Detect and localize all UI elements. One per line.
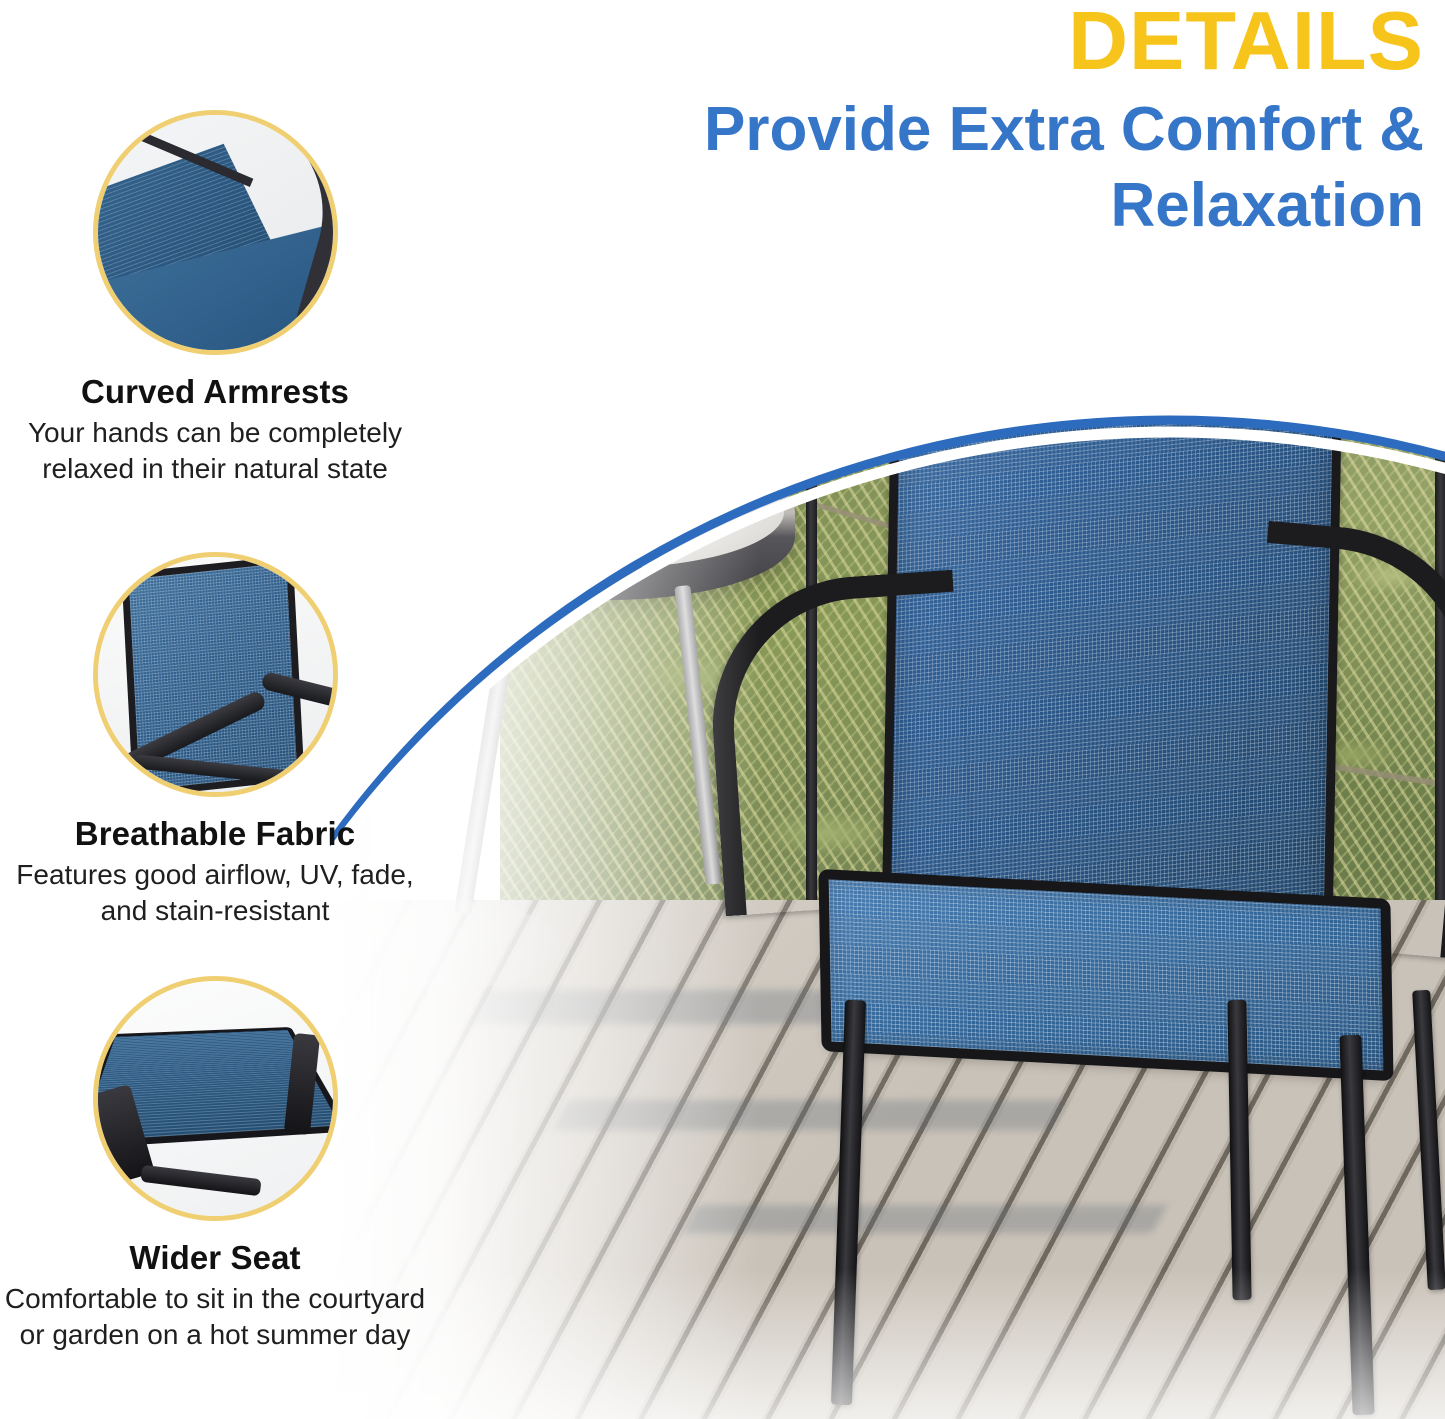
photo-bottom-fade — [330, 1269, 1445, 1419]
feature-title-wider-seat: Wider Seat — [0, 1239, 430, 1277]
feature-desc-line-1: Comfortable to sit in the courtyard — [0, 1281, 430, 1317]
page-subtitle: Provide Extra Comfort & Relaxation — [330, 92, 1430, 243]
feature-image-wider-seat — [93, 976, 338, 1221]
page-title: DETAILS — [330, 0, 1430, 81]
feature-description-wider-seat: Comfortable to sit in the courtyard or g… — [0, 1281, 430, 1354]
subtitle-line-1: Provide Extra Comfort & — [704, 95, 1424, 164]
hero-photo-image — [330, 300, 1445, 1419]
feature-image-breathable-fabric — [93, 552, 338, 797]
feature-title-breathable-fabric: Breathable Fabric — [0, 815, 430, 853]
seat-macro-photo — [93, 976, 338, 1221]
magazine-accent — [561, 490, 586, 510]
chair-seat-frame — [818, 869, 1393, 1081]
feature-breathable-fabric: Breathable Fabric Features good airflow,… — [0, 552, 430, 930]
feature-description-breathable-fabric: Features good airflow, UV, fade, and sta… — [0, 857, 430, 930]
feature-desc-line-2: relaxed in their natural state — [0, 451, 430, 487]
feature-desc-line-2: or garden on a hot summer day — [0, 1317, 430, 1353]
chair-leg-rear-right — [1412, 990, 1445, 1291]
subtitle-line-2: Relaxation — [330, 168, 1424, 244]
feature-description-curved-armrests: Your hands can be completely relaxed in … — [0, 415, 430, 488]
armrest-macro-photo — [93, 110, 338, 355]
hero-photo-panel — [330, 300, 1445, 1419]
fabric-macro-photo — [93, 552, 338, 797]
feature-image-curved-armrests — [93, 110, 338, 355]
feature-desc-line-1: Features good airflow, UV, fade, — [0, 857, 430, 893]
feature-title-curved-armrests: Curved Armrests — [0, 373, 430, 411]
headline-block: DETAILS Provide Extra Comfort & Relaxati… — [330, 0, 1430, 244]
feature-wider-seat: Wider Seat Comfortable to sit in the cou… — [0, 976, 430, 1354]
feature-desc-line-2: and stain-resistant — [0, 893, 430, 929]
hero-photo-clip — [330, 300, 1445, 1419]
feature-desc-line-1: Your hands can be completely — [0, 415, 430, 451]
